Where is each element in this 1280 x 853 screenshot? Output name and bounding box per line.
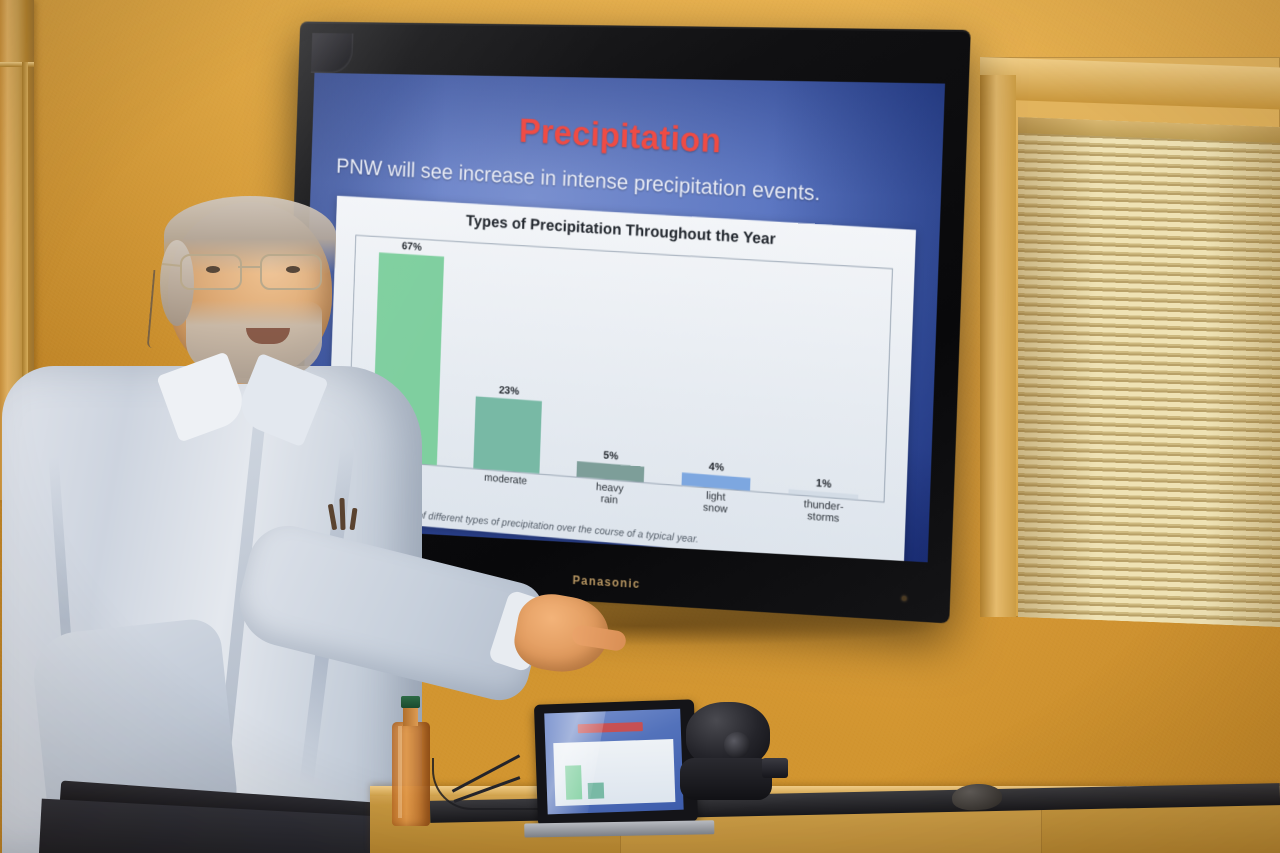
camera-base (680, 758, 772, 800)
bar-column: 5% (558, 249, 671, 484)
door-trim-lip (0, 62, 34, 67)
bar (473, 396, 541, 473)
eyeglass-bridge (238, 266, 260, 268)
laptop-screen (544, 709, 683, 815)
louvered-window-shutter (980, 57, 1280, 617)
beverage-bottle (392, 694, 430, 826)
bar-value-label: 1% (816, 478, 832, 491)
presentation-room-photo: Precipitation PNW will see increase in i… (0, 0, 1280, 853)
earpiece-microphone (147, 270, 160, 348)
eyeglass-lens (180, 254, 242, 290)
x-axis-label: thunder-storms (768, 495, 878, 538)
bar-column: 4% (663, 255, 778, 492)
bar-column: 1% (769, 262, 886, 501)
bar (577, 461, 645, 482)
bottle-cap (401, 696, 420, 708)
video-conference-camera (676, 702, 772, 798)
laptop-mirroring-slide[interactable] (534, 699, 698, 827)
bar-value-label: 5% (603, 449, 618, 462)
eyeglass-lens (260, 254, 322, 290)
shutter-shading (1018, 117, 1280, 627)
x-axis-label: heavyrain (556, 478, 662, 520)
bottle-body (392, 722, 430, 826)
window-jamb (980, 75, 1016, 617)
x-axis-label: lightsnow (662, 487, 770, 529)
bar-value-label: 4% (709, 461, 725, 474)
shirt-pocket-logo (330, 496, 360, 530)
camera-lens (724, 732, 750, 758)
bar-column: 23% (455, 242, 566, 475)
eyeglasses-icon (178, 254, 330, 288)
camera-side-module (762, 758, 788, 778)
bottle-highlight (398, 726, 402, 818)
bar-value-label: 23% (499, 385, 520, 398)
window-casing (980, 57, 1280, 109)
window-slats (1018, 117, 1280, 627)
